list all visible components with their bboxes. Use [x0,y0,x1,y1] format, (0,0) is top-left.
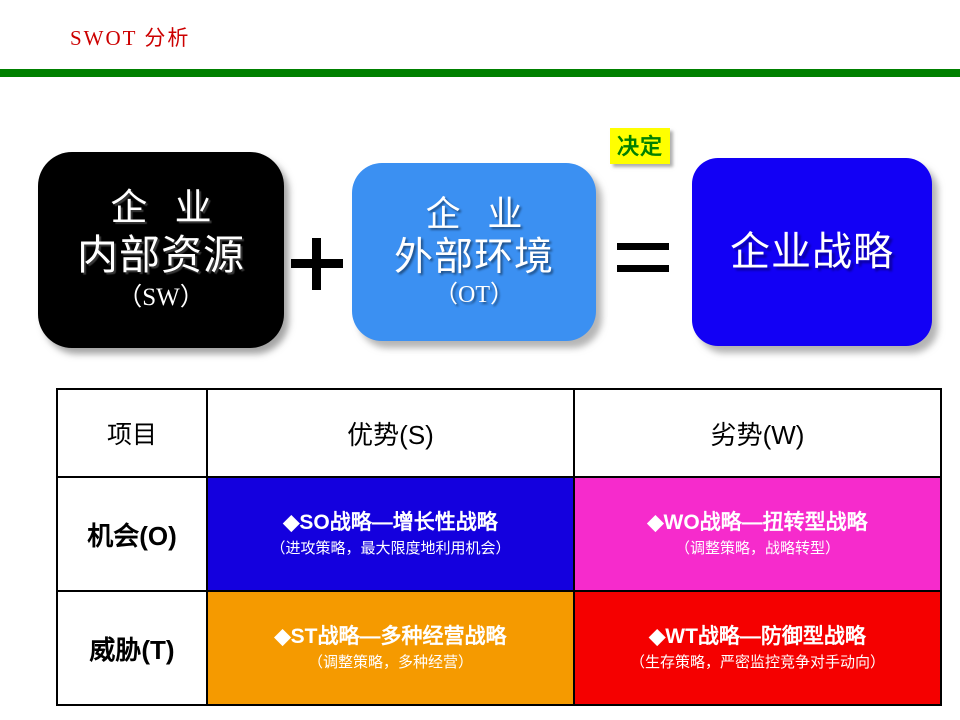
cell-wt-strategy: ◆WT战略—防御型战略 （生存策略，严密监控竞争对手动向） [574,591,941,705]
row-label-opportunities: 机会(O) [57,477,207,591]
cell-st-sub: （调整策略，多种经营） [208,654,573,673]
header-cell-weaknesses: 劣势(W) [574,389,941,477]
swot-matrix-table: 项目 优势(S) 劣势(W) 机会(O) ◆SO战略—增长性战略 （进攻策略，最… [56,388,942,706]
cell-wo-strategy: ◆WO战略—扭转型战略 （调整策略，战略转型） [574,477,941,591]
header-cell-strengths: 优势(S) [207,389,574,477]
cell-st-main: ◆ST战略—多种经营战略 [208,624,573,650]
title-divider-rule [0,69,960,77]
table-header-row: 项目 优势(S) 劣势(W) [57,389,941,477]
header-item-label: 项目 [107,422,157,449]
cell-so-sub: （进攻策略，最大限度地利用机会） [208,540,573,559]
table-row: 威胁(T) ◆ST战略—多种经营战略 （调整策略，多种经营） ◆WT战略—防御型… [57,591,941,705]
internal-box-line2: 内部资源 [77,233,245,279]
decides-badge: 决定 [610,128,670,164]
cell-wo-sub: （调整策略，战略转型） [575,540,940,559]
cell-so-main: ◆SO战略—增长性战略 [208,510,573,536]
plus-operator-icon [288,232,346,294]
header-weaknesses-label: 劣势(W) [711,420,805,450]
internal-box-line3: （SW） [117,284,205,312]
equals-operator-icon [617,240,669,274]
cell-wo-main: ◆WO战略—扭转型战略 [575,510,940,536]
cell-wt-main: ◆WT战略—防御型战略 [575,624,940,650]
page-title: SWOT 分析 [70,22,190,52]
header-cell-item: 项目 [57,389,207,477]
cell-wt-sub: （生存策略，严密监控竞争对手动向） [575,654,940,673]
external-box-line1: 企 业 [417,195,532,234]
external-environment-box: 企 业 外部环境 （OT） [352,163,596,341]
internal-box-line1: 企 业 [101,188,220,229]
row-label-threats: 威胁(T) [57,591,207,705]
enterprise-strategy-box: 企业战略 [692,158,932,346]
internal-resources-box: 企 业 内部资源 （SW） [38,152,284,348]
external-box-line2: 外部环境 [394,236,554,280]
external-box-line3: （OT） [434,282,514,309]
table-row: 机会(O) ◆SO战略—增长性战略 （进攻策略，最大限度地利用机会） ◆WO战略… [57,477,941,591]
strategy-box-line1: 企业战略 [730,230,894,275]
cell-st-strategy: ◆ST战略—多种经营战略 （调整策略，多种经营） [207,591,574,705]
header-strengths-label: 优势(S) [347,420,434,450]
cell-so-strategy: ◆SO战略—增长性战略 （进攻策略，最大限度地利用机会） [207,477,574,591]
